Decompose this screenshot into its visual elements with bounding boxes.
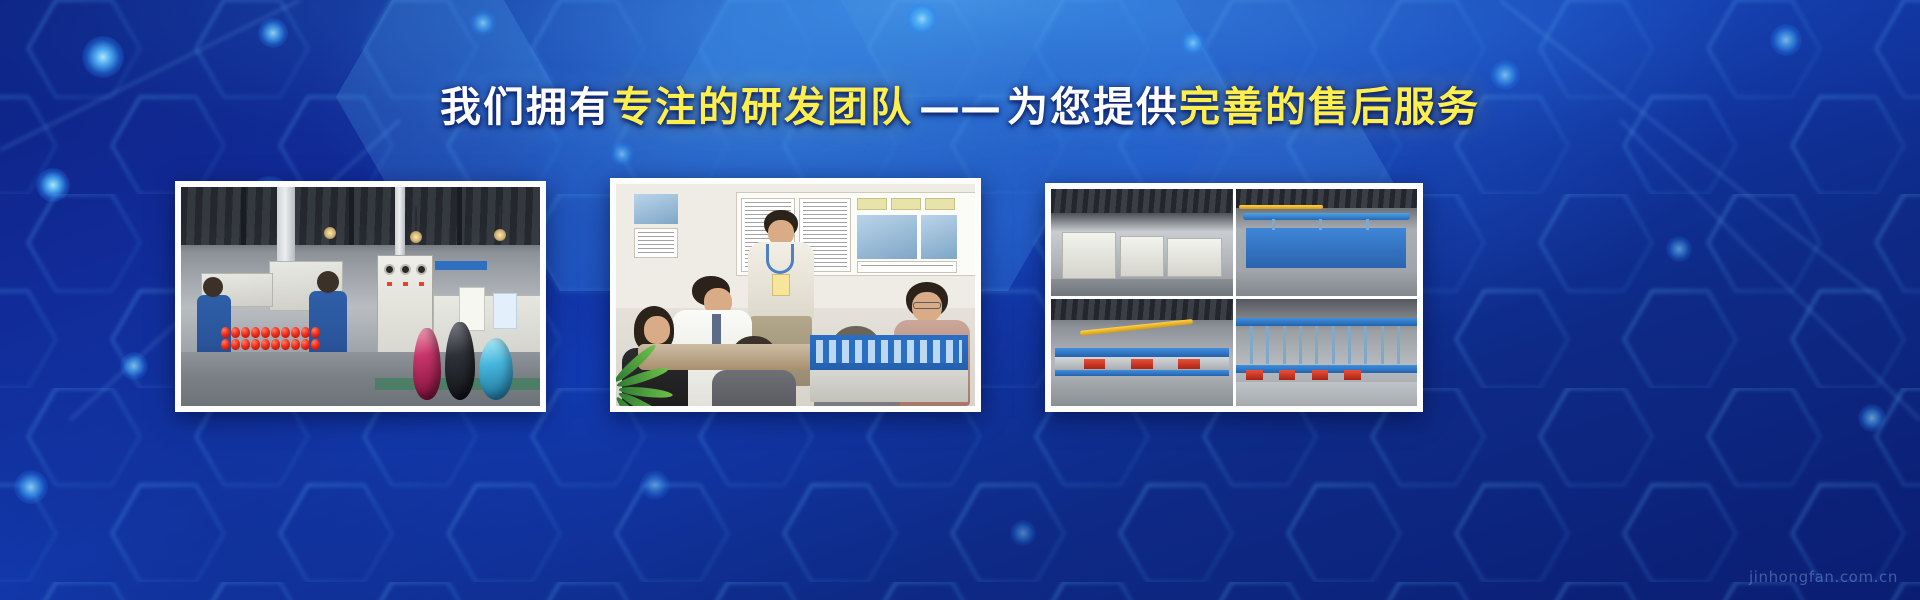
red-product [311, 339, 320, 350]
lamp-stem [415, 207, 417, 233]
collage-cell-blue-piping [1236, 189, 1418, 296]
hanging-hook [1266, 326, 1269, 365]
red-product [231, 339, 240, 350]
yellow-crane-beam [1080, 319, 1192, 336]
red-product [261, 339, 270, 350]
certificate-thumb [857, 198, 887, 210]
control-knob [418, 266, 425, 273]
red-workpiece [1344, 370, 1360, 381]
hanging-hook [1381, 326, 1384, 365]
hanging-hook [1283, 326, 1286, 365]
hanging-hook [1332, 326, 1335, 365]
headline-part-4: 为您提供 [1007, 83, 1179, 131]
red-workpiece [1084, 359, 1106, 369]
glow-node [1666, 236, 1692, 262]
glow-node [470, 10, 496, 36]
wall-notice [634, 228, 678, 258]
equipment-diagram [921, 215, 957, 259]
glow-node [14, 470, 48, 504]
headline-dash-separator: —— [913, 83, 1007, 131]
equipment-diagram [857, 215, 917, 259]
certificate-thumb [925, 198, 955, 210]
ceiling-lamp [324, 227, 336, 239]
factory-floor [1236, 382, 1418, 406]
equipment-gallery-photo [1051, 189, 1417, 406]
headline-part-2-highlight: 专注的研发团队 [612, 83, 913, 131]
foreground-plant [616, 331, 702, 406]
photo-frame [1051, 189, 1417, 406]
oven-cabinet [1062, 232, 1116, 279]
wall-photo [634, 194, 678, 224]
glow-node [36, 168, 70, 202]
red-workpiece [1312, 370, 1328, 381]
poster-text-lines [638, 232, 674, 254]
factory-roof-structure [1051, 299, 1233, 320]
glow-node [120, 352, 148, 380]
red-workpiece [1246, 370, 1262, 381]
red-workpiece [1279, 370, 1295, 381]
red-product [251, 327, 260, 338]
red-product [271, 339, 280, 350]
production-workshop-photo-card [175, 181, 546, 412]
equipment-shadow [1051, 279, 1233, 296]
collage-cell-conveyor-line [1051, 299, 1233, 406]
support-hook [1319, 219, 1322, 230]
red-product [231, 327, 240, 338]
ceiling-lamp [494, 229, 506, 241]
blue-pipe [1243, 213, 1410, 220]
glow-node [1770, 24, 1802, 56]
glow-node [82, 36, 124, 78]
factory-roof-structure [181, 187, 540, 245]
blue-vase-product [479, 338, 513, 400]
lamp-stem [499, 207, 501, 231]
equipment-cabinets [816, 340, 961, 363]
control-knob [386, 266, 393, 273]
red-product [221, 339, 230, 350]
red-product [281, 339, 290, 350]
equipment-gallery-photo-card [1045, 183, 1423, 412]
hanging-hook [1397, 326, 1400, 365]
person-shirt [712, 370, 796, 406]
technical-meeting-photo-card [610, 178, 981, 412]
worker-head [203, 277, 223, 297]
red-product [291, 327, 300, 338]
headline-part-5-highlight: 完善的售后服务 [1179, 83, 1480, 131]
control-knob [402, 266, 409, 273]
red-workpiece [1178, 359, 1200, 369]
eyeglasses [913, 302, 941, 309]
roof-truss [241, 187, 246, 245]
oven-cabinet [1167, 238, 1221, 277]
red-product [311, 327, 320, 338]
indicator-light [387, 282, 392, 286]
red-product [271, 327, 280, 338]
glow-node [1010, 520, 1036, 546]
glow-node [1180, 30, 1206, 56]
red-product [301, 327, 310, 338]
glow-node [905, 2, 939, 36]
id-badge [772, 274, 790, 296]
red-product [301, 339, 310, 350]
photo-frame [616, 184, 975, 406]
red-product [291, 339, 300, 350]
red-product [241, 327, 250, 338]
glow-node [610, 142, 634, 166]
red-product [251, 339, 260, 350]
machine-notice-sheet [493, 293, 517, 329]
lanyard [766, 244, 794, 274]
technical-meeting-photo [616, 184, 975, 406]
roof-truss [349, 187, 354, 245]
poster-text-lines [861, 265, 953, 269]
hanging-hook [1364, 326, 1367, 365]
oven-cabinet [1120, 236, 1164, 277]
factory-floor [1051, 380, 1233, 406]
equipment-banner-image [810, 335, 968, 402]
hanging-hook [1250, 326, 1253, 365]
technical-poster [857, 261, 957, 273]
yellow-pipe [1239, 205, 1322, 209]
support-hook [1272, 219, 1275, 230]
factory-roof-structure [1051, 189, 1233, 213]
red-product [261, 327, 270, 338]
red-product-row [221, 327, 325, 350]
overhead-rail [1236, 318, 1418, 325]
red-product [241, 339, 250, 350]
glow-node [1858, 404, 1886, 432]
red-product [281, 327, 290, 338]
indicator-light [403, 282, 408, 286]
certificate-thumb [891, 198, 921, 210]
indicator-light [419, 282, 424, 286]
glow-node [640, 470, 670, 500]
photo-frame [181, 187, 540, 406]
hanging-hook [1299, 326, 1302, 365]
pink-vase-product [413, 328, 441, 400]
promotional-banner: 我们拥有专注的研发团队——为您提供完善的售后服务 [0, 0, 1920, 600]
red-workpiece [1131, 359, 1153, 369]
lamp-stem [329, 207, 331, 229]
headline-part-1: 我们拥有 [440, 83, 612, 131]
roof-truss [457, 187, 462, 245]
glow-node [258, 18, 288, 48]
hanging-hook [1348, 326, 1351, 365]
conveyor-rail [1055, 370, 1229, 376]
production-workshop-photo [181, 187, 540, 406]
hanging-hook [1315, 326, 1318, 365]
collage-cell-curing-oven [1051, 189, 1233, 296]
worker-head [317, 271, 339, 293]
factory-floor [1236, 272, 1418, 296]
blue-oven-body [1246, 228, 1406, 269]
conveyor-rail [1055, 348, 1229, 357]
ceiling-lamp [410, 231, 422, 243]
red-product [221, 327, 230, 338]
banner-headline: 我们拥有专注的研发团队——为您提供完善的售后服务 [0, 82, 1920, 132]
black-vase-product [445, 322, 475, 400]
support-hook [1366, 219, 1369, 230]
machine-label-plate [435, 261, 487, 270]
collage-cell-coating-line [1236, 299, 1418, 406]
site-watermark: jinhongfan.com.cn [1749, 568, 1898, 586]
